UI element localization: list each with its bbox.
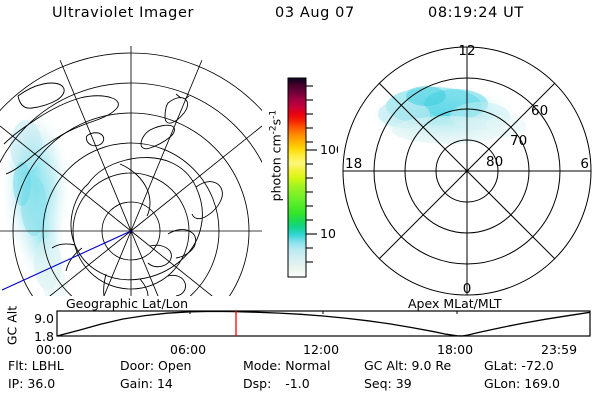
colorbar-unit-mid: s bbox=[269, 119, 284, 126]
observation-date: 03 Aug 07 bbox=[275, 5, 355, 21]
mlat-label-60: 60 bbox=[531, 103, 548, 119]
status-glat-label: GLat: bbox=[484, 358, 517, 373]
colorbar-unit-exp1: -2 bbox=[268, 125, 278, 134]
status-dsp-value: -1.0 bbox=[285, 376, 309, 391]
status-mode-value: Normal bbox=[285, 358, 330, 373]
status-ip-label: IP: bbox=[8, 376, 23, 391]
status-mode-label: Mode: bbox=[243, 358, 281, 373]
colorbar-unit-main: photon cm bbox=[269, 134, 284, 201]
geographic-map bbox=[0, 38, 262, 296]
time-tick-2359: 23:59 bbox=[541, 342, 577, 357]
mlat-label-70: 70 bbox=[510, 133, 527, 149]
status-gain: Gain: 14 bbox=[120, 376, 173, 391]
status-dsp: Dsp: -1.0 bbox=[243, 376, 310, 391]
apex-polar-dial: 12 6 0 18 60 70 80 bbox=[338, 38, 600, 296]
status-glon-label: GLon: bbox=[484, 376, 520, 391]
time-tick-0000: 00:00 bbox=[36, 342, 72, 357]
status-seq-label: Seq: bbox=[364, 376, 392, 391]
colorbar-ramp bbox=[288, 78, 306, 277]
time-tick-1200: 12:00 bbox=[303, 342, 339, 357]
status-seq-value: 39 bbox=[396, 376, 412, 391]
orbit-plot-frame bbox=[57, 311, 590, 336]
status-ip-value: 36.0 bbox=[27, 376, 55, 391]
orbit-altitude-panel: Geographic Lat/Lon Apex MLat/MLT GC Alt … bbox=[0, 296, 600, 352]
mlt-label-12: 12 bbox=[458, 43, 475, 59]
observation-time: 08:19:24 UT bbox=[428, 5, 524, 21]
mlt-label-6: 6 bbox=[580, 156, 589, 172]
status-gain-value: 14 bbox=[157, 376, 173, 391]
colorbar-axis-label: photon cm-2s-1 bbox=[268, 81, 283, 231]
header: Ultraviolet Imager 03 Aug 07 08:19:24 UT bbox=[0, 5, 600, 31]
mlt-label-18: 18 bbox=[345, 156, 362, 172]
mlt-spokes bbox=[343, 47, 591, 295]
status-seq: Seq: 39 bbox=[364, 376, 412, 391]
colorbar-ticks bbox=[306, 86, 317, 262]
status-glon: GLon: 169.0 bbox=[484, 376, 560, 391]
status-dsp-label: Dsp: bbox=[243, 376, 271, 391]
time-tick-1800: 18:00 bbox=[437, 342, 473, 357]
status-glat-value: -72.0 bbox=[521, 358, 553, 373]
colorbar-unit-exp2: -1 bbox=[268, 110, 278, 119]
status-door-label: Door: bbox=[120, 358, 154, 373]
time-tick-0600: 06:00 bbox=[170, 342, 206, 357]
status-filter: Flt: LBHL bbox=[8, 358, 64, 373]
status-glon-value: 169.0 bbox=[524, 376, 560, 391]
status-filter-label: Flt: bbox=[8, 358, 28, 373]
status-readout: Flt: LBHL Door: Open Mode: Normal GC Alt… bbox=[0, 358, 600, 400]
status-door: Door: Open bbox=[120, 358, 191, 373]
orbit-altitude-chart bbox=[0, 296, 600, 342]
uvi-display: Ultraviolet Imager 03 Aug 07 08:19:24 UT bbox=[0, 0, 600, 400]
status-gain-label: Gain: bbox=[120, 376, 153, 391]
status-glat: GLat: -72.0 bbox=[484, 358, 554, 373]
colorbar-tick-10: 10 bbox=[320, 226, 336, 241]
mlat-label-80: 80 bbox=[486, 154, 503, 170]
instrument-title: Ultraviolet Imager bbox=[52, 5, 194, 21]
geographic-map-panel bbox=[0, 38, 262, 296]
status-filter-value: LBHL bbox=[32, 358, 64, 373]
status-gc-alt-value: 9.0 Re bbox=[412, 358, 452, 373]
mlt-label-0: 0 bbox=[463, 281, 472, 296]
status-door-value: Open bbox=[158, 358, 191, 373]
status-gc-alt-label: GC Alt: bbox=[364, 358, 408, 373]
status-mode: Mode: Normal bbox=[243, 358, 331, 373]
status-ip: IP: 36.0 bbox=[8, 376, 55, 391]
status-gc-alt: GC Alt: 9.0 Re bbox=[364, 358, 451, 373]
apex-mlt-panel: 12 6 0 18 60 70 80 bbox=[338, 38, 600, 296]
colorbar-panel: photon cm-2s-1 100 10 bbox=[255, 40, 345, 295]
